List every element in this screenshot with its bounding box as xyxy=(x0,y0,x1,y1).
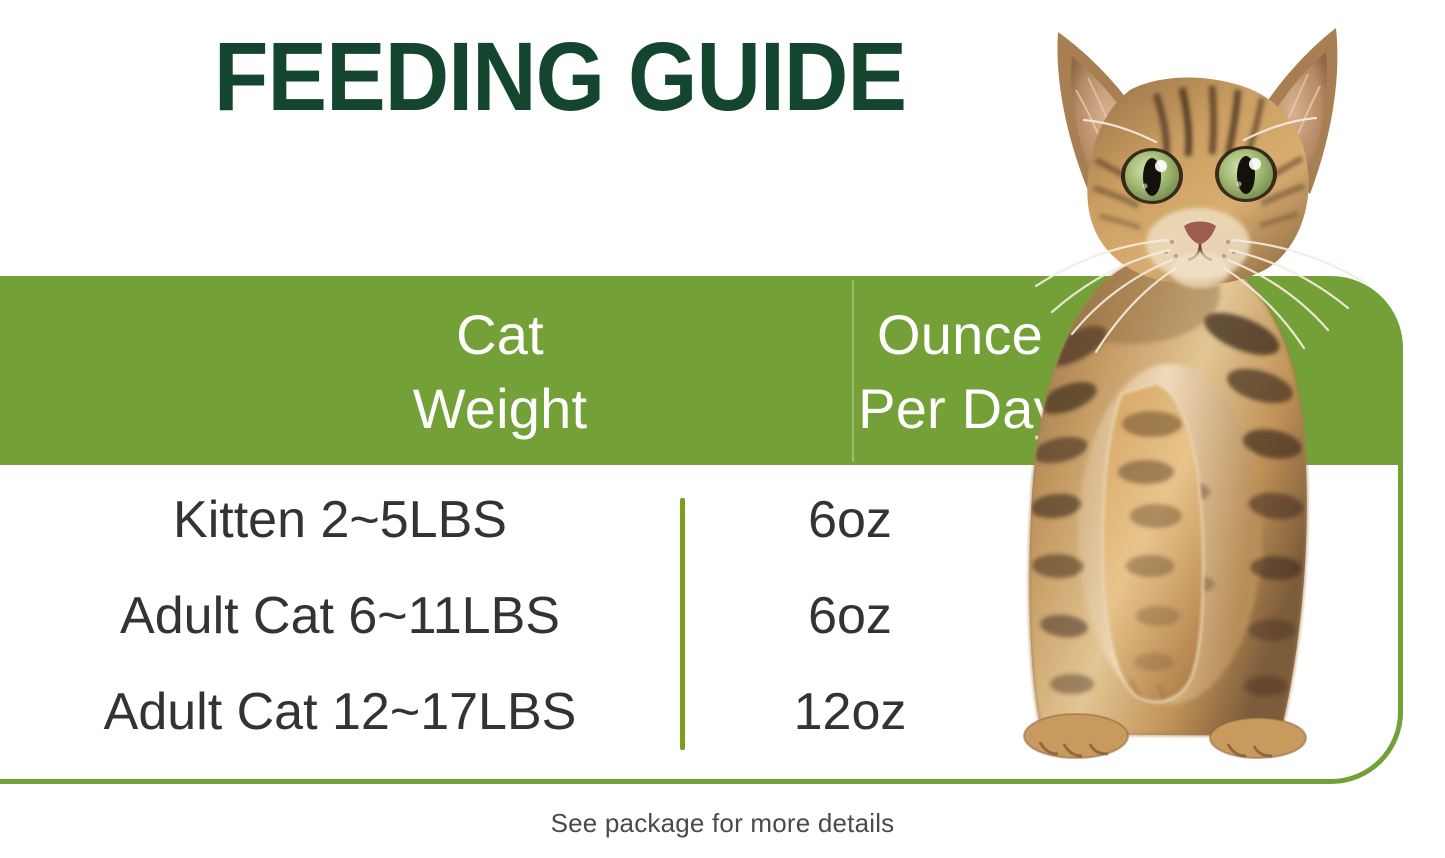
cell-ounce-per-day: 12oz xyxy=(710,664,990,760)
column-header-ounce-per-day-line2: Per Day xyxy=(700,372,1220,446)
cell-cat-weight: Kitten 2~5LBS xyxy=(20,472,660,568)
page-title: FEEDING GUIDE xyxy=(45,28,1075,125)
feeding-table-card: Cat Weight Ounce Per Day Kitten 2~5LBS 6… xyxy=(0,276,1403,784)
column-header-ounce-per-day-line1: Ounce xyxy=(700,298,1220,372)
cell-cat-weight: Adult Cat 6~11LBS xyxy=(20,568,660,664)
footnote-text: See package for more details xyxy=(0,808,1445,839)
table-row: Kitten 2~5LBS 6oz xyxy=(0,472,1403,568)
table-row: Adult Cat 6~11LBS 6oz xyxy=(0,568,1403,664)
feeding-table-rows: Kitten 2~5LBS 6oz Adult Cat 6~11LBS 6oz … xyxy=(0,472,1403,760)
column-header-ounce-per-day: Ounce Per Day xyxy=(700,298,1220,446)
feeding-guide-infographic: FEEDING GUIDE Cat Weight Ounce Per Day K… xyxy=(0,0,1445,858)
cell-ounce-per-day: 6oz xyxy=(710,568,990,664)
table-row: Adult Cat 12~17LBS 12oz xyxy=(0,664,1403,760)
cell-ounce-per-day: 6oz xyxy=(710,472,990,568)
cell-cat-weight: Adult Cat 12~17LBS xyxy=(20,664,660,760)
